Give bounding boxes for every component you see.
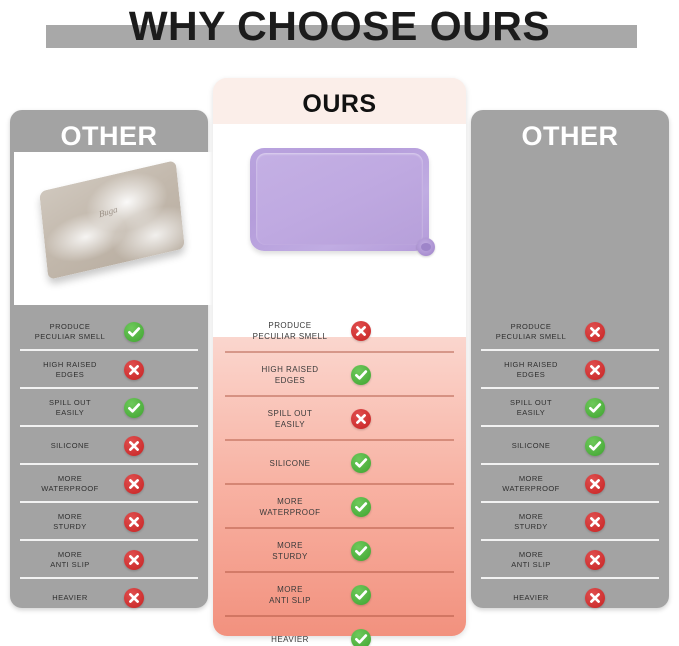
feature-row: MOREANTI SLIP (10, 541, 208, 579)
feature-mark (585, 474, 605, 494)
feature-mark (124, 436, 144, 456)
feature-mark (585, 588, 605, 608)
badge-glyph (585, 322, 605, 342)
feature-row: SILICONE (471, 427, 669, 465)
feature-row: PRODUCEPECULIAR SMELL (213, 309, 466, 353)
feature-label: PRODUCEPECULIAR SMELL (227, 320, 353, 342)
cross-circle-icon (351, 321, 371, 341)
feature-label: SPILL OUTEASILY (227, 408, 353, 430)
feature-label: HIGH RAISEDEDGES (227, 364, 353, 386)
feature-mark (585, 360, 605, 380)
feature-row: SILICONE (10, 427, 208, 465)
badge-glyph (585, 436, 605, 456)
badge-glyph (351, 629, 371, 646)
feature-row: MOREWATERPROOF (471, 465, 669, 503)
feature-mark (124, 512, 144, 532)
page-title-area: WHY CHOOSE OURS (0, 0, 679, 62)
feature-row: SPILL OUTEASILY (213, 397, 466, 441)
check-circle-icon (351, 497, 371, 517)
badge-glyph (124, 512, 144, 532)
cross-circle-icon (585, 360, 605, 380)
feature-label: PRODUCEPECULIAR SMELL (479, 322, 583, 342)
cross-circle-icon (585, 588, 605, 608)
cross-circle-icon (124, 588, 144, 608)
column-header-other-right: OTHER (471, 121, 669, 152)
feature-mark (124, 588, 144, 608)
feature-mark (585, 550, 605, 570)
check-circle-icon (585, 436, 605, 456)
comparison-infographic: WHY CHOOSE OURS OTHER Buga OTHER OURS PR… (0, 0, 679, 646)
badge-glyph (124, 398, 144, 418)
cross-circle-icon (351, 409, 371, 429)
badge-glyph (124, 322, 144, 342)
product-image-beige-mat: Buga (39, 160, 185, 280)
badge-glyph (351, 497, 371, 517)
feature-label: MOREANTI SLIP (479, 550, 583, 570)
badge-glyph (585, 360, 605, 380)
badge-glyph (585, 474, 605, 494)
feature-label: HEAVIER (18, 593, 122, 603)
feature-label: MOREANTI SLIP (18, 550, 122, 570)
feature-row: HIGH RAISEDEDGES (213, 353, 466, 397)
feature-label: MOREWATERPROOF (479, 474, 583, 494)
badge-glyph (585, 588, 605, 608)
feature-row: HIGH RAISEDEDGES (471, 351, 669, 389)
check-circle-icon (351, 541, 371, 561)
feature-label: SILICONE (18, 441, 122, 451)
feature-row: MORESTURDY (10, 503, 208, 541)
badge-glyph (351, 321, 371, 341)
badge-glyph (585, 550, 605, 570)
feature-label: SILICONE (479, 441, 583, 451)
feature-mark (124, 474, 144, 494)
feature-list-other-right: PRODUCEPECULIAR SMELLHIGH RAISEDEDGESSPI… (471, 313, 669, 617)
check-circle-icon (351, 585, 371, 605)
check-circle-icon (124, 322, 144, 342)
feature-row: PRODUCEPECULIAR SMELL (471, 313, 669, 351)
cross-circle-icon (124, 360, 144, 380)
feature-mark (124, 550, 144, 570)
feature-mark (124, 360, 144, 380)
feature-row: SPILL OUTEASILY (471, 389, 669, 427)
feature-mark (124, 322, 144, 342)
column-ours: OURS PRODUCEPECULIAR SMELLHIGH RAISEDEDG… (213, 78, 466, 636)
feature-label: SPILL OUTEASILY (479, 398, 583, 418)
feature-label: HEAVIER (227, 634, 353, 645)
feature-mark (585, 436, 605, 456)
feature-label: MOREWATERPROOF (18, 474, 122, 494)
feature-row: MOREANTI SLIP (213, 573, 466, 617)
feature-mark (585, 322, 605, 342)
cross-circle-icon (585, 512, 605, 532)
feature-row: PRODUCEPECULIAR SMELL (10, 313, 208, 351)
feature-mark (351, 541, 371, 561)
cross-circle-icon (585, 474, 605, 494)
feature-mark (351, 321, 371, 341)
paw-print-icon (417, 238, 435, 256)
feature-label: HIGH RAISEDEDGES (18, 360, 122, 380)
check-circle-icon (351, 365, 371, 385)
product-brand-label: Buga (98, 204, 118, 219)
page-title: WHY CHOOSE OURS (0, 0, 679, 52)
cross-circle-icon (124, 512, 144, 532)
badge-glyph (351, 585, 371, 605)
feature-row: MOREWATERPROOF (213, 485, 466, 529)
feature-mark (351, 365, 371, 385)
feature-row: SPILL OUTEASILY (10, 389, 208, 427)
feature-row: MOREANTI SLIP (471, 541, 669, 579)
badge-glyph (351, 365, 371, 385)
cross-circle-icon (124, 436, 144, 456)
badge-glyph (124, 436, 144, 456)
feature-mark (585, 398, 605, 418)
badge-glyph (124, 550, 144, 570)
feature-row: MOREWATERPROOF (10, 465, 208, 503)
feature-label: HEAVIER (479, 593, 583, 603)
badge-glyph (124, 588, 144, 608)
feature-mark (351, 453, 371, 473)
feature-mark (124, 398, 144, 418)
cross-circle-icon (585, 322, 605, 342)
badge-glyph (585, 398, 605, 418)
feature-label: HIGH RAISEDEDGES (479, 360, 583, 380)
check-circle-icon (124, 398, 144, 418)
feature-mark (351, 585, 371, 605)
ours-product-image-area (213, 124, 466, 337)
badge-glyph (585, 512, 605, 532)
feature-label: MORESTURDY (227, 540, 353, 562)
feature-mark (351, 409, 371, 429)
feature-label: PRODUCEPECULIAR SMELL (18, 322, 122, 342)
feature-row: MORESTURDY (213, 529, 466, 573)
cross-circle-icon (124, 474, 144, 494)
check-circle-icon (585, 398, 605, 418)
feature-label: MORESTURDY (18, 512, 122, 532)
feature-mark (585, 512, 605, 532)
feature-list-other-left: PRODUCEPECULIAR SMELLHIGH RAISEDEDGESSPI… (10, 313, 208, 617)
badge-glyph (351, 453, 371, 473)
feature-list-ours: PRODUCEPECULIAR SMELLHIGH RAISEDEDGESSPI… (213, 309, 466, 646)
badge-glyph (124, 360, 144, 380)
cross-circle-icon (585, 550, 605, 570)
column-header-other-left: OTHER (10, 121, 208, 152)
check-circle-icon (351, 629, 371, 646)
feature-row: MORESTURDY (471, 503, 669, 541)
badge-glyph (351, 541, 371, 561)
feature-label: SPILL OUTEASILY (18, 398, 122, 418)
feature-mark (351, 629, 371, 646)
feature-label: MORESTURDY (479, 512, 583, 532)
check-circle-icon (351, 453, 371, 473)
feature-label: SILICONE (227, 458, 353, 469)
purple-mat-inner-surface (256, 153, 423, 245)
feature-label: MOREWATERPROOF (227, 496, 353, 518)
column-header-ours: OURS (213, 90, 466, 119)
feature-label: MOREANTI SLIP (227, 584, 353, 606)
feature-row: HIGH RAISEDEDGES (10, 351, 208, 389)
feature-row: HEAVIER (213, 617, 466, 646)
badge-glyph (351, 409, 371, 429)
feature-row: HEAVIER (471, 579, 669, 617)
feature-row: SILICONE (213, 441, 466, 485)
cross-circle-icon (124, 550, 144, 570)
feature-mark (351, 497, 371, 517)
feature-row: HEAVIER (10, 579, 208, 617)
badge-glyph (124, 474, 144, 494)
product-image-purple-silicone-mat (250, 148, 429, 251)
